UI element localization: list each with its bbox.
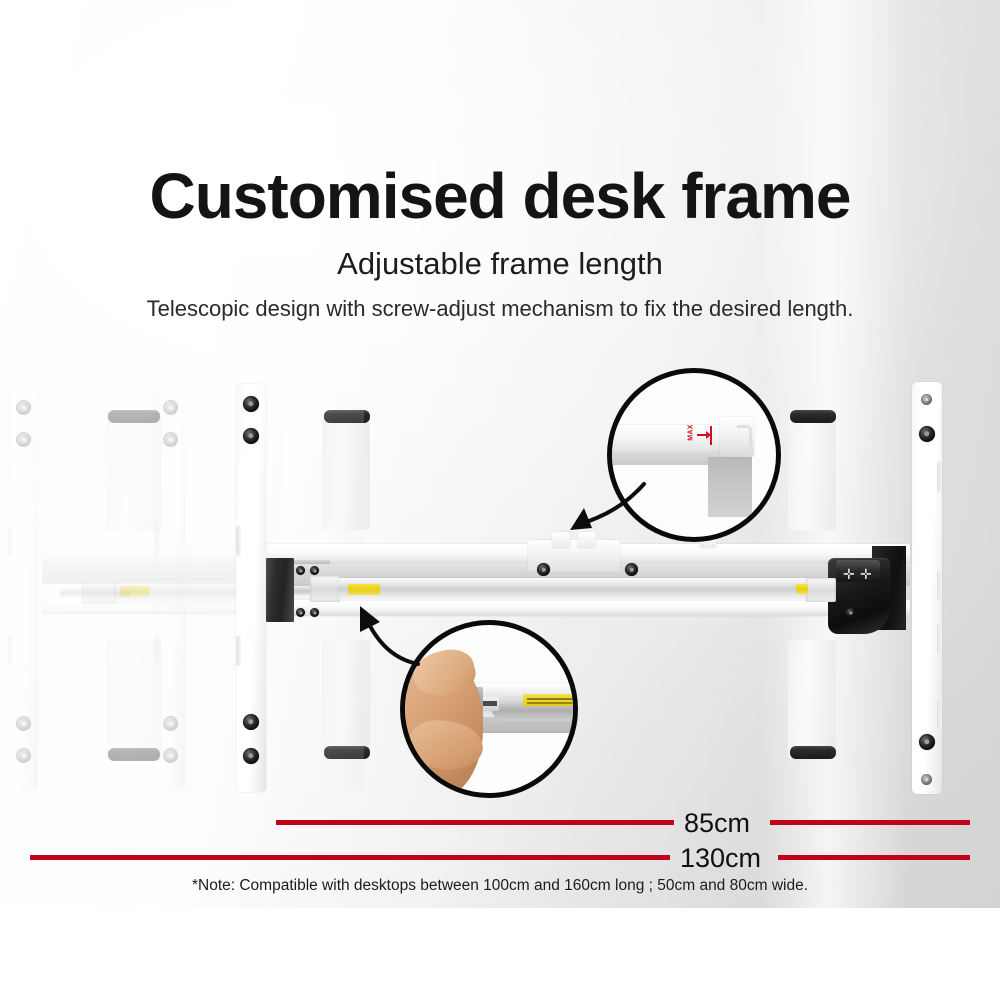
- ghost-foot-plate-1: [106, 412, 162, 532]
- foot-plate-right-bottom: [788, 640, 836, 758]
- measure-label: 85cm: [684, 810, 750, 837]
- motor-tube: [338, 578, 838, 600]
- warning-label: [348, 584, 380, 595]
- leg-left: [236, 384, 266, 792]
- screw: [310, 566, 319, 575]
- leg-notch: [236, 526, 241, 556]
- screw: [243, 396, 259, 412]
- max-label: MAX: [688, 424, 695, 440]
- telescopic-collar: [310, 576, 340, 602]
- foot-pad-right-bottom: [790, 746, 836, 759]
- gearbox-cross-screw-2: ✛: [860, 568, 872, 582]
- mount-plate-left: [266, 558, 294, 622]
- measure-line-right: [770, 820, 970, 825]
- max-arrow-icon: [697, 434, 710, 436]
- foot-plate-right-top: [788, 412, 836, 530]
- ghost-tube-collar: [82, 580, 116, 604]
- background-bottom-white: [0, 908, 1000, 1000]
- screw: [243, 714, 259, 730]
- gearbox-screw: [846, 608, 855, 617]
- leg-notch: [937, 624, 942, 654]
- screw: [921, 774, 932, 785]
- compatibility-note: *Note: Compatible with desktops between …: [0, 878, 1000, 894]
- leg-notch: [8, 634, 13, 664]
- ghost-leg-1: [8, 386, 38, 790]
- page-blurb: Telescopic design with screw-adjust mech…: [0, 298, 1000, 320]
- leg-right: [912, 382, 942, 794]
- max-marker: MAX: [686, 425, 712, 447]
- mount-plate-shim: [294, 560, 330, 564]
- screw: [919, 426, 935, 442]
- callout-end-cap-hook: [737, 425, 752, 453]
- screw: [16, 716, 31, 731]
- pointer-arrow-bottom: [340, 598, 440, 674]
- screw: [243, 748, 259, 764]
- bracket-screw-right: [625, 563, 638, 576]
- leg-notch: [937, 462, 942, 492]
- screw: [919, 734, 935, 750]
- screw: [243, 428, 259, 444]
- gearbox-cross-screw-1: ✛: [843, 568, 855, 582]
- ghost-foot-plate-2: [106, 640, 162, 760]
- callout2-warning-label: [523, 694, 578, 706]
- screw: [163, 716, 178, 731]
- screw: [163, 400, 178, 415]
- screw: [296, 608, 305, 617]
- measure-label: 130cm: [680, 845, 761, 872]
- bracket-screw-left: [537, 563, 550, 576]
- motor-tube-marker: [796, 584, 808, 594]
- max-limit-bar: [710, 426, 712, 445]
- measure-line-left: [276, 820, 674, 825]
- screw: [163, 432, 178, 447]
- screw: [921, 394, 932, 405]
- screw: [296, 566, 305, 575]
- leg-notch: [937, 570, 942, 600]
- ghost-foot-pad-1: [108, 410, 160, 423]
- screw: [16, 400, 31, 415]
- foot-pad-right-top: [790, 410, 836, 423]
- page-subtitle: Adjustable frame length: [0, 248, 1000, 279]
- measure-line-left: [30, 855, 670, 860]
- leg-notch: [937, 700, 942, 730]
- page-title: Customised desk frame: [0, 164, 1000, 228]
- leg-notch: [236, 636, 241, 666]
- leg-notch: [8, 526, 13, 556]
- screw: [310, 608, 319, 617]
- pointer-arrow-top: [540, 478, 650, 548]
- product-image-canvas: ✛ ✛ Customised desk frame Adjustable fra…: [0, 0, 1000, 1000]
- ghost-foot-pad-2: [108, 748, 160, 761]
- screw: [16, 748, 31, 763]
- callout-shadow-block: [708, 457, 752, 517]
- screw: [16, 432, 31, 447]
- screw: [163, 748, 178, 763]
- motor-tube-endcap: [806, 578, 836, 602]
- ghost-warning-label: [120, 586, 150, 597]
- measure-line-right: [778, 855, 970, 860]
